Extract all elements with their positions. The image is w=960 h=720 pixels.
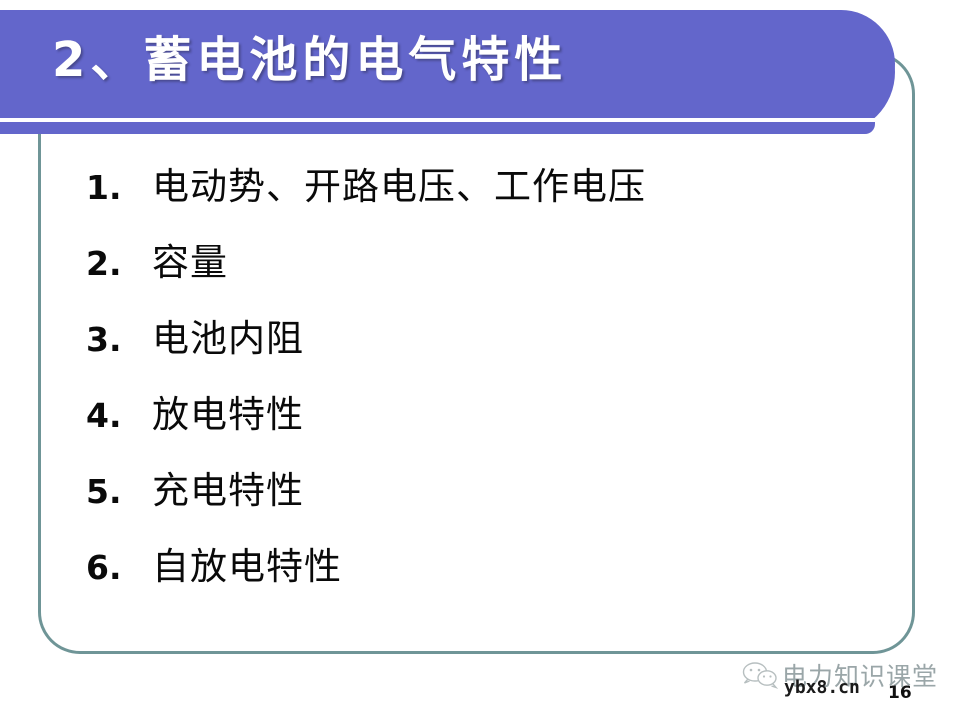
list-item: 1. 电动势、开路电压、工作电压 bbox=[86, 168, 866, 244]
list-item-label: 电动势、开路电压、工作电压 bbox=[152, 168, 646, 205]
list-item-label: 放电特性 bbox=[152, 396, 304, 433]
list-item-label: 容量 bbox=[152, 244, 228, 281]
list-item: 6. 自放电特性 bbox=[86, 548, 866, 624]
list-item: 2. 容量 bbox=[86, 244, 866, 320]
list-item-number: 5. bbox=[86, 475, 152, 508]
list-item-number: 3. bbox=[86, 323, 152, 356]
list-item-label: 自放电特性 bbox=[152, 548, 342, 585]
list-item-label: 充电特性 bbox=[152, 472, 304, 509]
list-item: 4. 放电特性 bbox=[86, 396, 866, 472]
slide-title: 2、蓄电池的电气特性 bbox=[52, 30, 567, 90]
list-item-number: 4. bbox=[86, 399, 152, 432]
list-item: 5. 充电特性 bbox=[86, 472, 866, 548]
watermark-domain: ybx8.cn bbox=[784, 677, 860, 698]
numbered-list: 1. 电动势、开路电压、工作电压 2. 容量 3. 电池内阻 4. 放电特性 5… bbox=[86, 168, 866, 624]
list-item-number: 2. bbox=[86, 247, 152, 280]
title-banner-foot bbox=[0, 122, 875, 134]
presentation-slide: 2、蓄电池的电气特性 1. 电动势、开路电压、工作电压 2. 容量 3. 电池内… bbox=[0, 0, 960, 720]
list-item-label: 电池内阻 bbox=[152, 320, 304, 357]
list-item-number: 6. bbox=[86, 551, 152, 584]
wechat-icon bbox=[742, 660, 778, 690]
list-item-number: 1. bbox=[86, 171, 152, 204]
title-banner-underline bbox=[0, 118, 880, 122]
page-number: 16 bbox=[888, 683, 912, 703]
list-item: 3. 电池内阻 bbox=[86, 320, 866, 396]
